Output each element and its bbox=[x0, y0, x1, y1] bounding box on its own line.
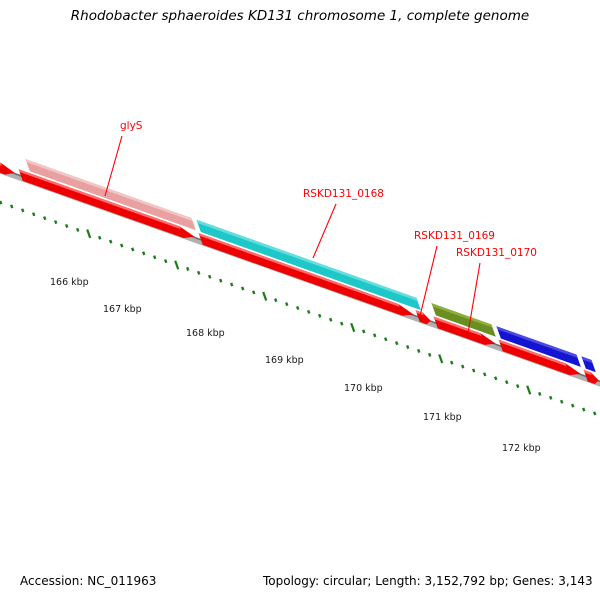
ruler-tick-minor bbox=[165, 260, 166, 263]
ruler-tick-minor bbox=[451, 361, 452, 364]
genome-sequence-viewer[interactable]: Rhodobacter sphaeroides KD131 chromosome… bbox=[0, 0, 600, 600]
ruler-tick-label: 168 kbp bbox=[186, 328, 225, 339]
ruler-tick-minor bbox=[385, 338, 386, 341]
ruler-tick-major bbox=[263, 292, 266, 300]
ruler-tick-minor bbox=[275, 299, 276, 302]
ruler-tick-label: 171 kbp bbox=[423, 412, 462, 423]
ruler-tick-minor bbox=[121, 244, 122, 247]
ruler-tick-minor bbox=[198, 271, 199, 274]
ruler-tick-minor bbox=[66, 224, 67, 227]
ruler-tick-minor bbox=[286, 302, 287, 305]
ruler-tick-minor bbox=[143, 252, 144, 255]
callout-label-text[interactable]: RSKD131_0168 bbox=[303, 188, 384, 200]
page-title: Rhodobacter sphaeroides KD131 chromosome… bbox=[71, 8, 529, 24]
ruler-tick-minor bbox=[561, 400, 562, 403]
ruler-tick-minor bbox=[396, 342, 397, 345]
ruler-tick-minor bbox=[341, 322, 342, 325]
ruler-tick-minor bbox=[495, 377, 496, 380]
ruler-tick-minor bbox=[209, 275, 210, 278]
ruler-tick-major bbox=[351, 323, 354, 331]
ruler-tick-minor bbox=[231, 283, 232, 286]
ruler-tick-label: 170 kbp bbox=[344, 383, 383, 394]
ruler-track[interactable]: 166 kbp167 kbp168 kbp169 kbp170 kbp171 k… bbox=[0, 201, 600, 454]
ruler-tick-minor bbox=[55, 220, 56, 223]
ruler-tick-minor bbox=[539, 392, 540, 395]
ruler-tick-minor bbox=[99, 236, 100, 239]
ruler-tick-minor bbox=[319, 314, 320, 317]
ruler-tick-minor bbox=[77, 228, 78, 231]
ruler-tick-major bbox=[527, 386, 530, 394]
ruler-tick-label: 172 kbp bbox=[502, 443, 541, 454]
ruler-tick-minor bbox=[462, 365, 463, 368]
callout-label-text[interactable]: RSKD131_0170 bbox=[456, 247, 537, 259]
ruler-tick-minor bbox=[22, 209, 23, 212]
ruler-tick-minor bbox=[132, 248, 133, 251]
ruler-tick-minor bbox=[187, 267, 188, 270]
accession-text: Accession: NC_011963 bbox=[20, 574, 156, 588]
ruler-tick-minor bbox=[550, 396, 551, 399]
gene-callout-glys[interactable]: glyS bbox=[105, 120, 143, 196]
ruler-tick-minor bbox=[506, 381, 507, 384]
ruler-tick-label: 166 kbp bbox=[50, 277, 89, 288]
ruler-tick-minor bbox=[594, 412, 595, 415]
ruler-tick-label: 167 kbp bbox=[103, 304, 142, 315]
callout-label-text[interactable]: glyS bbox=[120, 120, 143, 132]
ruler-tick-minor bbox=[308, 310, 309, 313]
genome-summary-text: Topology: circular; Length: 3,152,792 bp… bbox=[262, 574, 593, 588]
ruler-tick-minor bbox=[33, 213, 34, 216]
gene-arrow-highlight bbox=[199, 233, 400, 307]
gene-callout-rskd131-0169[interactable]: RSKD131_0169 bbox=[414, 230, 495, 316]
ruler-tick-minor bbox=[44, 217, 45, 220]
ruler-tick-minor bbox=[242, 287, 243, 290]
ruler-tick-minor bbox=[220, 279, 221, 282]
ruler-tick-minor bbox=[297, 306, 298, 309]
ruler-tick-minor bbox=[330, 318, 331, 321]
ruler-tick-major bbox=[87, 230, 90, 238]
ruler-tick-minor bbox=[418, 349, 419, 352]
ruler-tick-minor bbox=[154, 256, 155, 259]
ruler-tick-minor bbox=[407, 345, 408, 348]
ruler-tick-minor bbox=[11, 205, 12, 208]
gene-callout-rskd131-0168[interactable]: RSKD131_0168 bbox=[303, 188, 384, 258]
ruler-tick-minor bbox=[429, 353, 430, 356]
ruler-tick-minor bbox=[484, 373, 485, 376]
ruler-tick-minor bbox=[473, 369, 474, 372]
callout-label-text[interactable]: RSKD131_0169 bbox=[414, 230, 495, 242]
gene-left-partial[interactable] bbox=[0, 158, 15, 175]
callout-leader-line bbox=[313, 204, 336, 258]
ruler-tick-major bbox=[175, 261, 178, 269]
gene-arrow-body bbox=[0, 158, 15, 175]
callout-leader-line bbox=[105, 136, 122, 196]
ruler-tick-minor bbox=[0, 201, 1, 204]
feature-glys[interactable] bbox=[25, 159, 195, 230]
ruler-tick-minor bbox=[583, 408, 584, 411]
ruler-tick-major bbox=[439, 355, 442, 363]
gene-rskd131-0168[interactable] bbox=[199, 233, 414, 316]
feature-rskd131-0168[interactable] bbox=[196, 220, 420, 310]
ruler-tick-minor bbox=[110, 240, 111, 243]
ruler-tick-minor bbox=[517, 384, 518, 387]
gene-arrow-highlight bbox=[19, 169, 181, 229]
ruler-tick-label: 169 kbp bbox=[265, 355, 304, 366]
ruler-tick-minor bbox=[572, 404, 573, 407]
ruler-tick-minor bbox=[363, 330, 364, 333]
ruler-tick-minor bbox=[253, 291, 254, 294]
ruler-tick-minor bbox=[374, 334, 375, 337]
feature-highlight bbox=[196, 220, 417, 301]
gene-glys[interactable] bbox=[19, 169, 195, 238]
